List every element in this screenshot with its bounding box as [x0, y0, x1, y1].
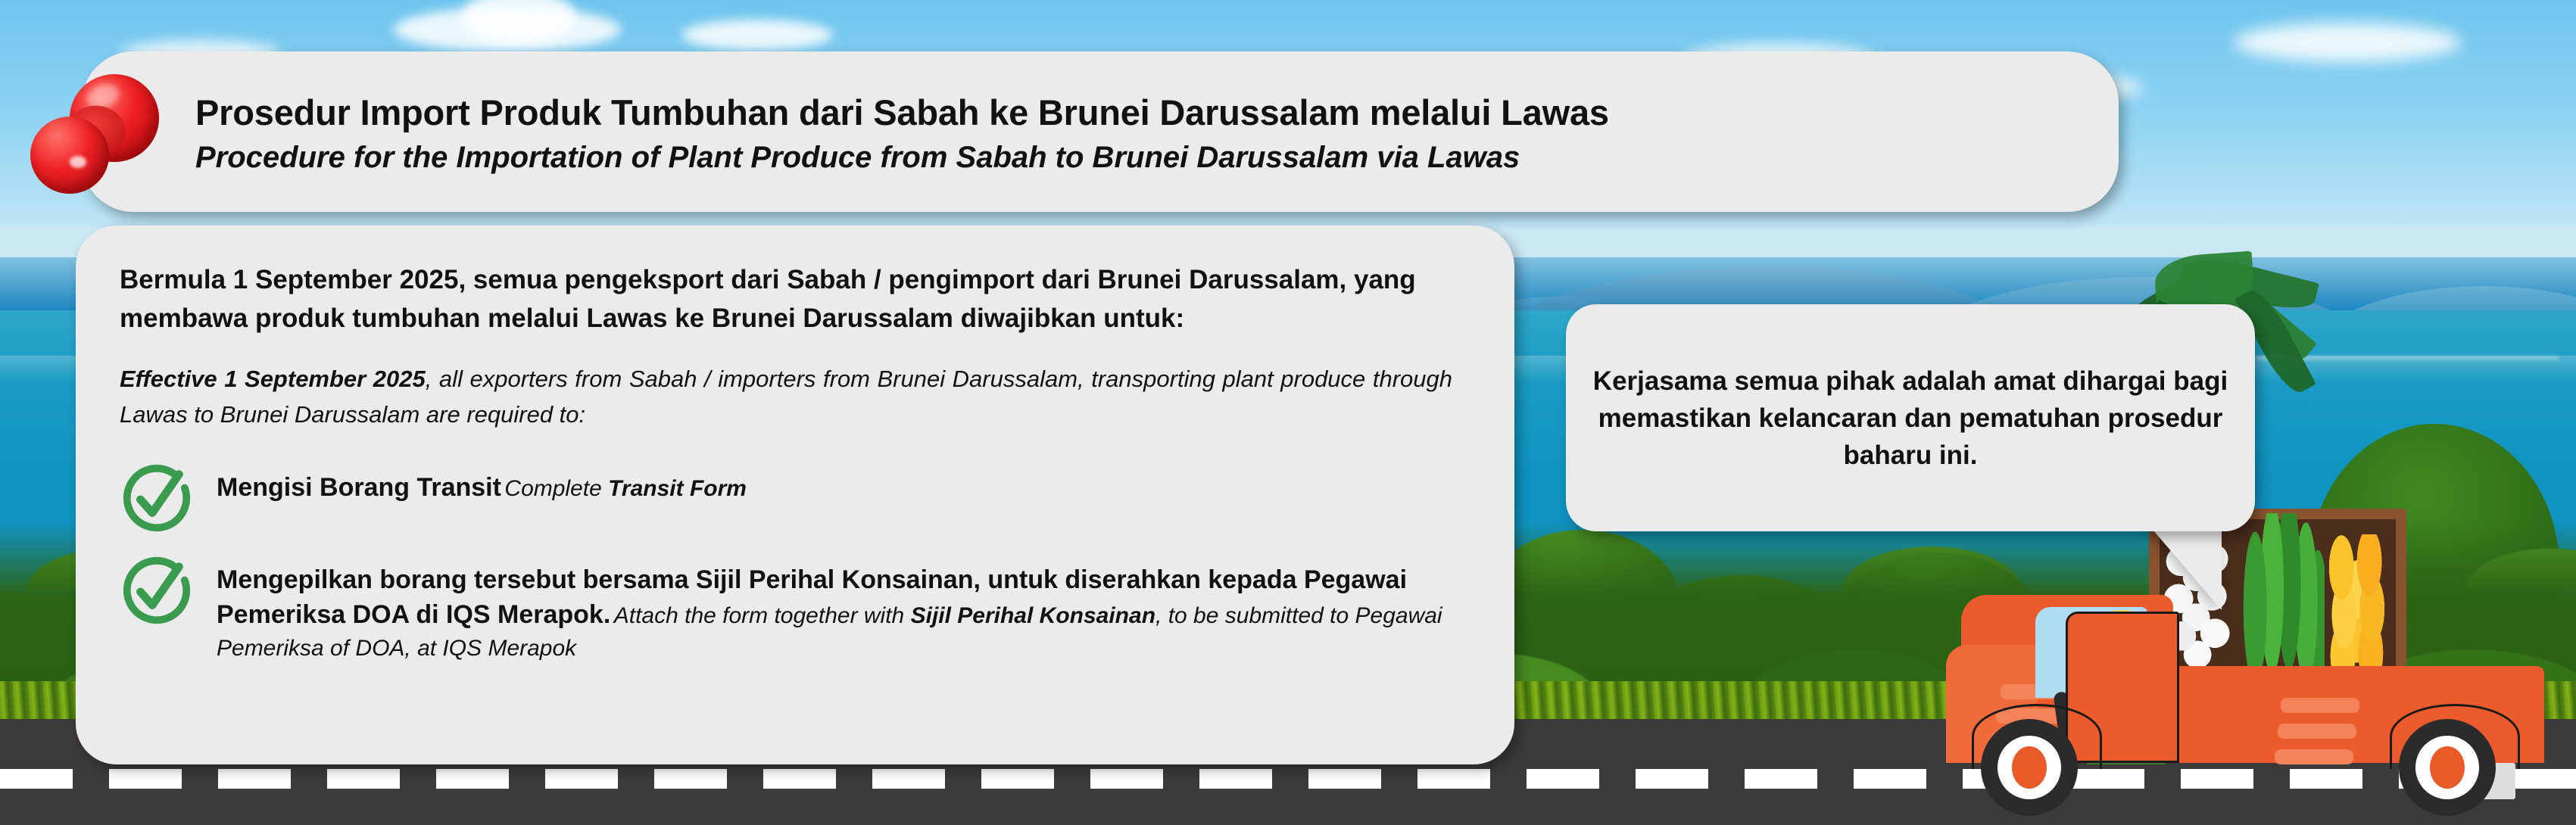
title-card: Prosedur Import Produk Tumbuhan dari Sab… — [82, 51, 2119, 212]
road-dash — [109, 769, 182, 789]
speech-bubble-text: Kerjasama semua pihak adalah amat diharg… — [1592, 363, 2229, 474]
requirements-list: Mengisi Borang Transit Complete Transit … — [120, 467, 1469, 665]
road-dash — [1527, 769, 1599, 789]
page-title: Prosedur Import Produk Tumbuhan dari Sab… — [195, 92, 2088, 133]
road-dash — [1417, 769, 1490, 789]
road-dash — [981, 769, 1054, 789]
speech-bubble: Kerjasama semua pihak adalah amat diharg… — [1566, 304, 2255, 531]
list-item-en-plain: Attach the form together with — [614, 603, 911, 628]
road-dash — [545, 769, 618, 789]
pushpin-head-front — [30, 117, 109, 194]
page-subtitle: Procedure for the Importation of Plant P… — [195, 139, 2088, 176]
list-item: Mengepilkan borang tersebut bersama Siji… — [120, 559, 1469, 665]
list-item-en-plain: Complete — [504, 476, 608, 501]
check-circle-icon — [120, 461, 194, 535]
list-item-en: Complete Transit Form — [504, 476, 747, 501]
truck-bed-stripe — [2281, 698, 2359, 713]
road-dash — [1090, 769, 1163, 789]
intro-paragraph-en: Effective 1 September 2025, all exporter… — [120, 362, 1469, 432]
road-dash — [1745, 769, 1817, 789]
road-dash — [654, 769, 727, 789]
intro-paragraph-ms: Bermula 1 September 2025, semua pengeksp… — [120, 260, 1469, 338]
road-dash — [327, 769, 400, 789]
truck-bed-stripe — [2278, 724, 2356, 739]
cloud — [681, 20, 833, 50]
list-item-text: Mengepilkan borang tersebut bersama Siji… — [217, 559, 1469, 665]
pushpin-icon — [23, 64, 167, 207]
list-item-ms: Mengisi Borang Transit — [217, 473, 501, 502]
leafy-vegetable-icon — [2240, 513, 2325, 671]
front-wheel — [1981, 719, 2078, 816]
road-dash — [1854, 769, 1926, 789]
wheel-hub — [2430, 746, 2465, 789]
rear-wheel — [2399, 719, 2496, 816]
road-dash — [1636, 769, 1708, 789]
road-dash — [0, 769, 73, 789]
speech-bubble-tail — [2149, 525, 2222, 610]
wheel-hub — [2012, 746, 2047, 789]
road-dash — [1308, 769, 1381, 789]
list-item-en-bold: Sijil Perihal Konsainan — [911, 603, 1155, 628]
road-dash — [218, 769, 291, 789]
road-dash — [872, 769, 945, 789]
body-card: Bermula 1 September 2025, semua pengeksp… — [76, 226, 1514, 764]
corn-icon — [2326, 534, 2396, 672]
intro-en-bold-lead: Effective 1 September 2025 — [120, 366, 426, 392]
list-item: Mengisi Borang Transit Complete Transit … — [120, 467, 1469, 535]
cloud — [2234, 23, 2461, 62]
intro-ms-bold-lead: Bermula 1 September 2025, — [120, 265, 466, 294]
check-circle-icon — [120, 553, 194, 627]
road-dash — [763, 769, 836, 789]
list-item-en-bold: Transit Form — [608, 476, 747, 501]
road-dash — [436, 769, 509, 789]
road-dash — [1199, 769, 1272, 789]
list-item-text: Mengisi Borang Transit Complete Transit … — [217, 467, 747, 506]
truck-bed-stripe — [2275, 749, 2353, 764]
